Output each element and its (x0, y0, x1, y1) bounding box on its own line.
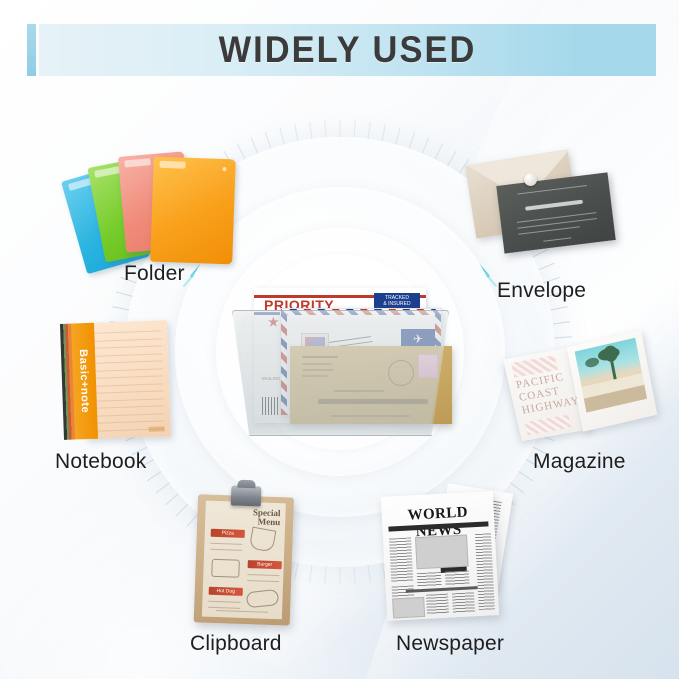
product-center-file-holder: PRIORITY ★ MAIL TRACKED & INSURED ★ ★ ★ … (232, 288, 447, 438)
magazine-texture-bottom (525, 415, 571, 435)
card-script-text (525, 200, 583, 211)
menu-title: Special Menu (253, 508, 281, 527)
notebook-rule-line (91, 413, 164, 417)
poster-canvas: WIDELY USED Folder (0, 0, 679, 679)
notebook-rule-line (90, 390, 163, 394)
folder-hole (222, 167, 226, 171)
notebook-rule-line (91, 420, 164, 424)
notebook-rule-line (90, 375, 163, 379)
notebook-rule-line (90, 383, 163, 387)
label-envelope: Envelope (497, 279, 586, 303)
envelope-card (496, 172, 615, 253)
clipboard-clip (231, 485, 262, 506)
folder-tab (94, 166, 121, 178)
newspaper-front-page: WORLD NEWS (381, 491, 499, 621)
magazine-title: PACIFIC COAST HIGHWAY (515, 369, 581, 417)
magazine-right-page (567, 330, 658, 432)
clipboard-menu-paper: Special Menu Pizza Burger Hot Dog (202, 501, 286, 620)
product-clipboard: Special Menu Pizza Burger Hot Dog (194, 484, 299, 627)
insured-label: & INSURED (374, 301, 420, 307)
notebook-rule-line (89, 353, 162, 357)
folder-orange (150, 157, 236, 265)
product-notebook: Basic+note (60, 320, 174, 442)
notebook-rule-line (89, 338, 162, 342)
notebook-rule-line (88, 330, 161, 334)
menu-section-burger: Burger (248, 560, 282, 569)
label-folder: Folder (124, 262, 185, 286)
notebook-rule-line (91, 405, 164, 409)
menu-section-hotdog: Hot Dog (209, 587, 243, 596)
menu-title-line2: Menu (253, 517, 281, 527)
product-newspaper: WORLD NEWS (382, 484, 514, 626)
notebook-rule-line (89, 345, 162, 349)
label-newspaper: Newspaper (396, 632, 504, 656)
folder-tab (124, 158, 151, 167)
acrylic-holder-front (232, 310, 447, 434)
magazine-photo (575, 338, 647, 413)
banner-accent-bar (27, 24, 36, 76)
product-envelope (470, 155, 620, 265)
folder-tab (159, 161, 185, 169)
product-folder (70, 148, 235, 263)
menu-section-pizza: Pizza (211, 529, 245, 538)
page-title: WIDELY USED (61, 24, 635, 76)
label-notebook: Notebook (55, 450, 147, 474)
label-magazine: Magazine (533, 450, 626, 474)
label-clipboard: Clipboard (190, 632, 282, 656)
notebook-rule-line (89, 360, 162, 364)
product-magazine: PACIFIC COAST HIGHWAY (512, 338, 652, 443)
notebook-rule-line (90, 368, 163, 372)
notebook-rule-line (91, 398, 164, 402)
